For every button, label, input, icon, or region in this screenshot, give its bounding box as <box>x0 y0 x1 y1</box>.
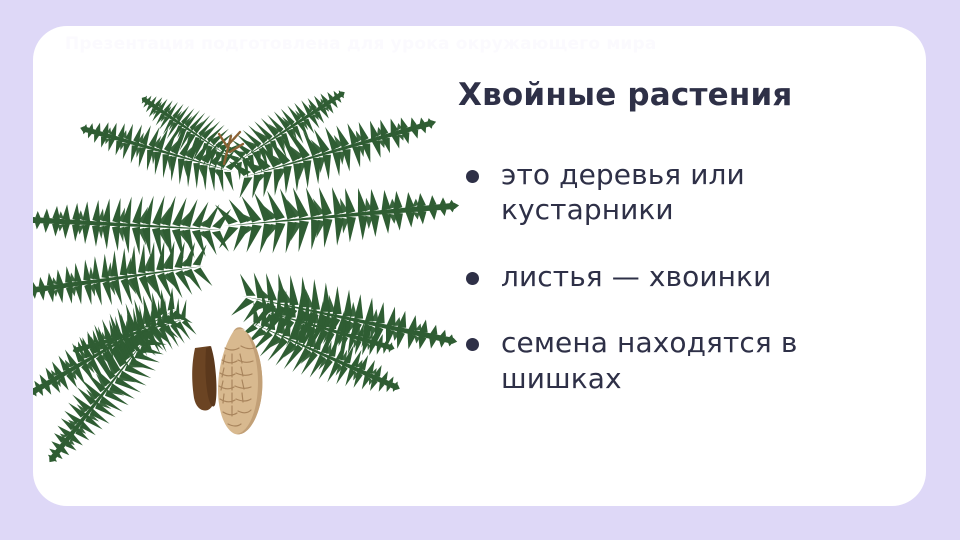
bullet-list: это деревья или кустарники листья — хвои… <box>458 157 908 397</box>
bullet-dot-icon <box>466 272 479 285</box>
pine-cone <box>218 327 262 434</box>
bullet-dot-icon <box>466 338 479 351</box>
bullet-dot-icon <box>466 170 479 183</box>
list-item: листья — хвоинки <box>458 259 908 295</box>
spruce-branch-illustration <box>33 60 468 480</box>
text-column: Хвойные растения это деревья или кустарн… <box>458 78 908 396</box>
content-card: Презентация подготовлена для урока окруж… <box>33 26 926 506</box>
list-item-label: семена находятся в шишках <box>501 326 797 395</box>
list-item-label: это деревья или кустарники <box>501 158 745 227</box>
branch-stub <box>192 346 216 411</box>
page-title: Хвойные растения <box>458 78 908 113</box>
list-item: это деревья или кустарники <box>458 157 908 228</box>
watermark-text: Презентация подготовлена для урока окруж… <box>65 34 685 54</box>
slide-root: Презентация подготовлена для урока окруж… <box>0 0 960 540</box>
list-item-label: листья — хвоинки <box>501 260 771 293</box>
list-item: семена находятся в шишках <box>458 325 908 396</box>
